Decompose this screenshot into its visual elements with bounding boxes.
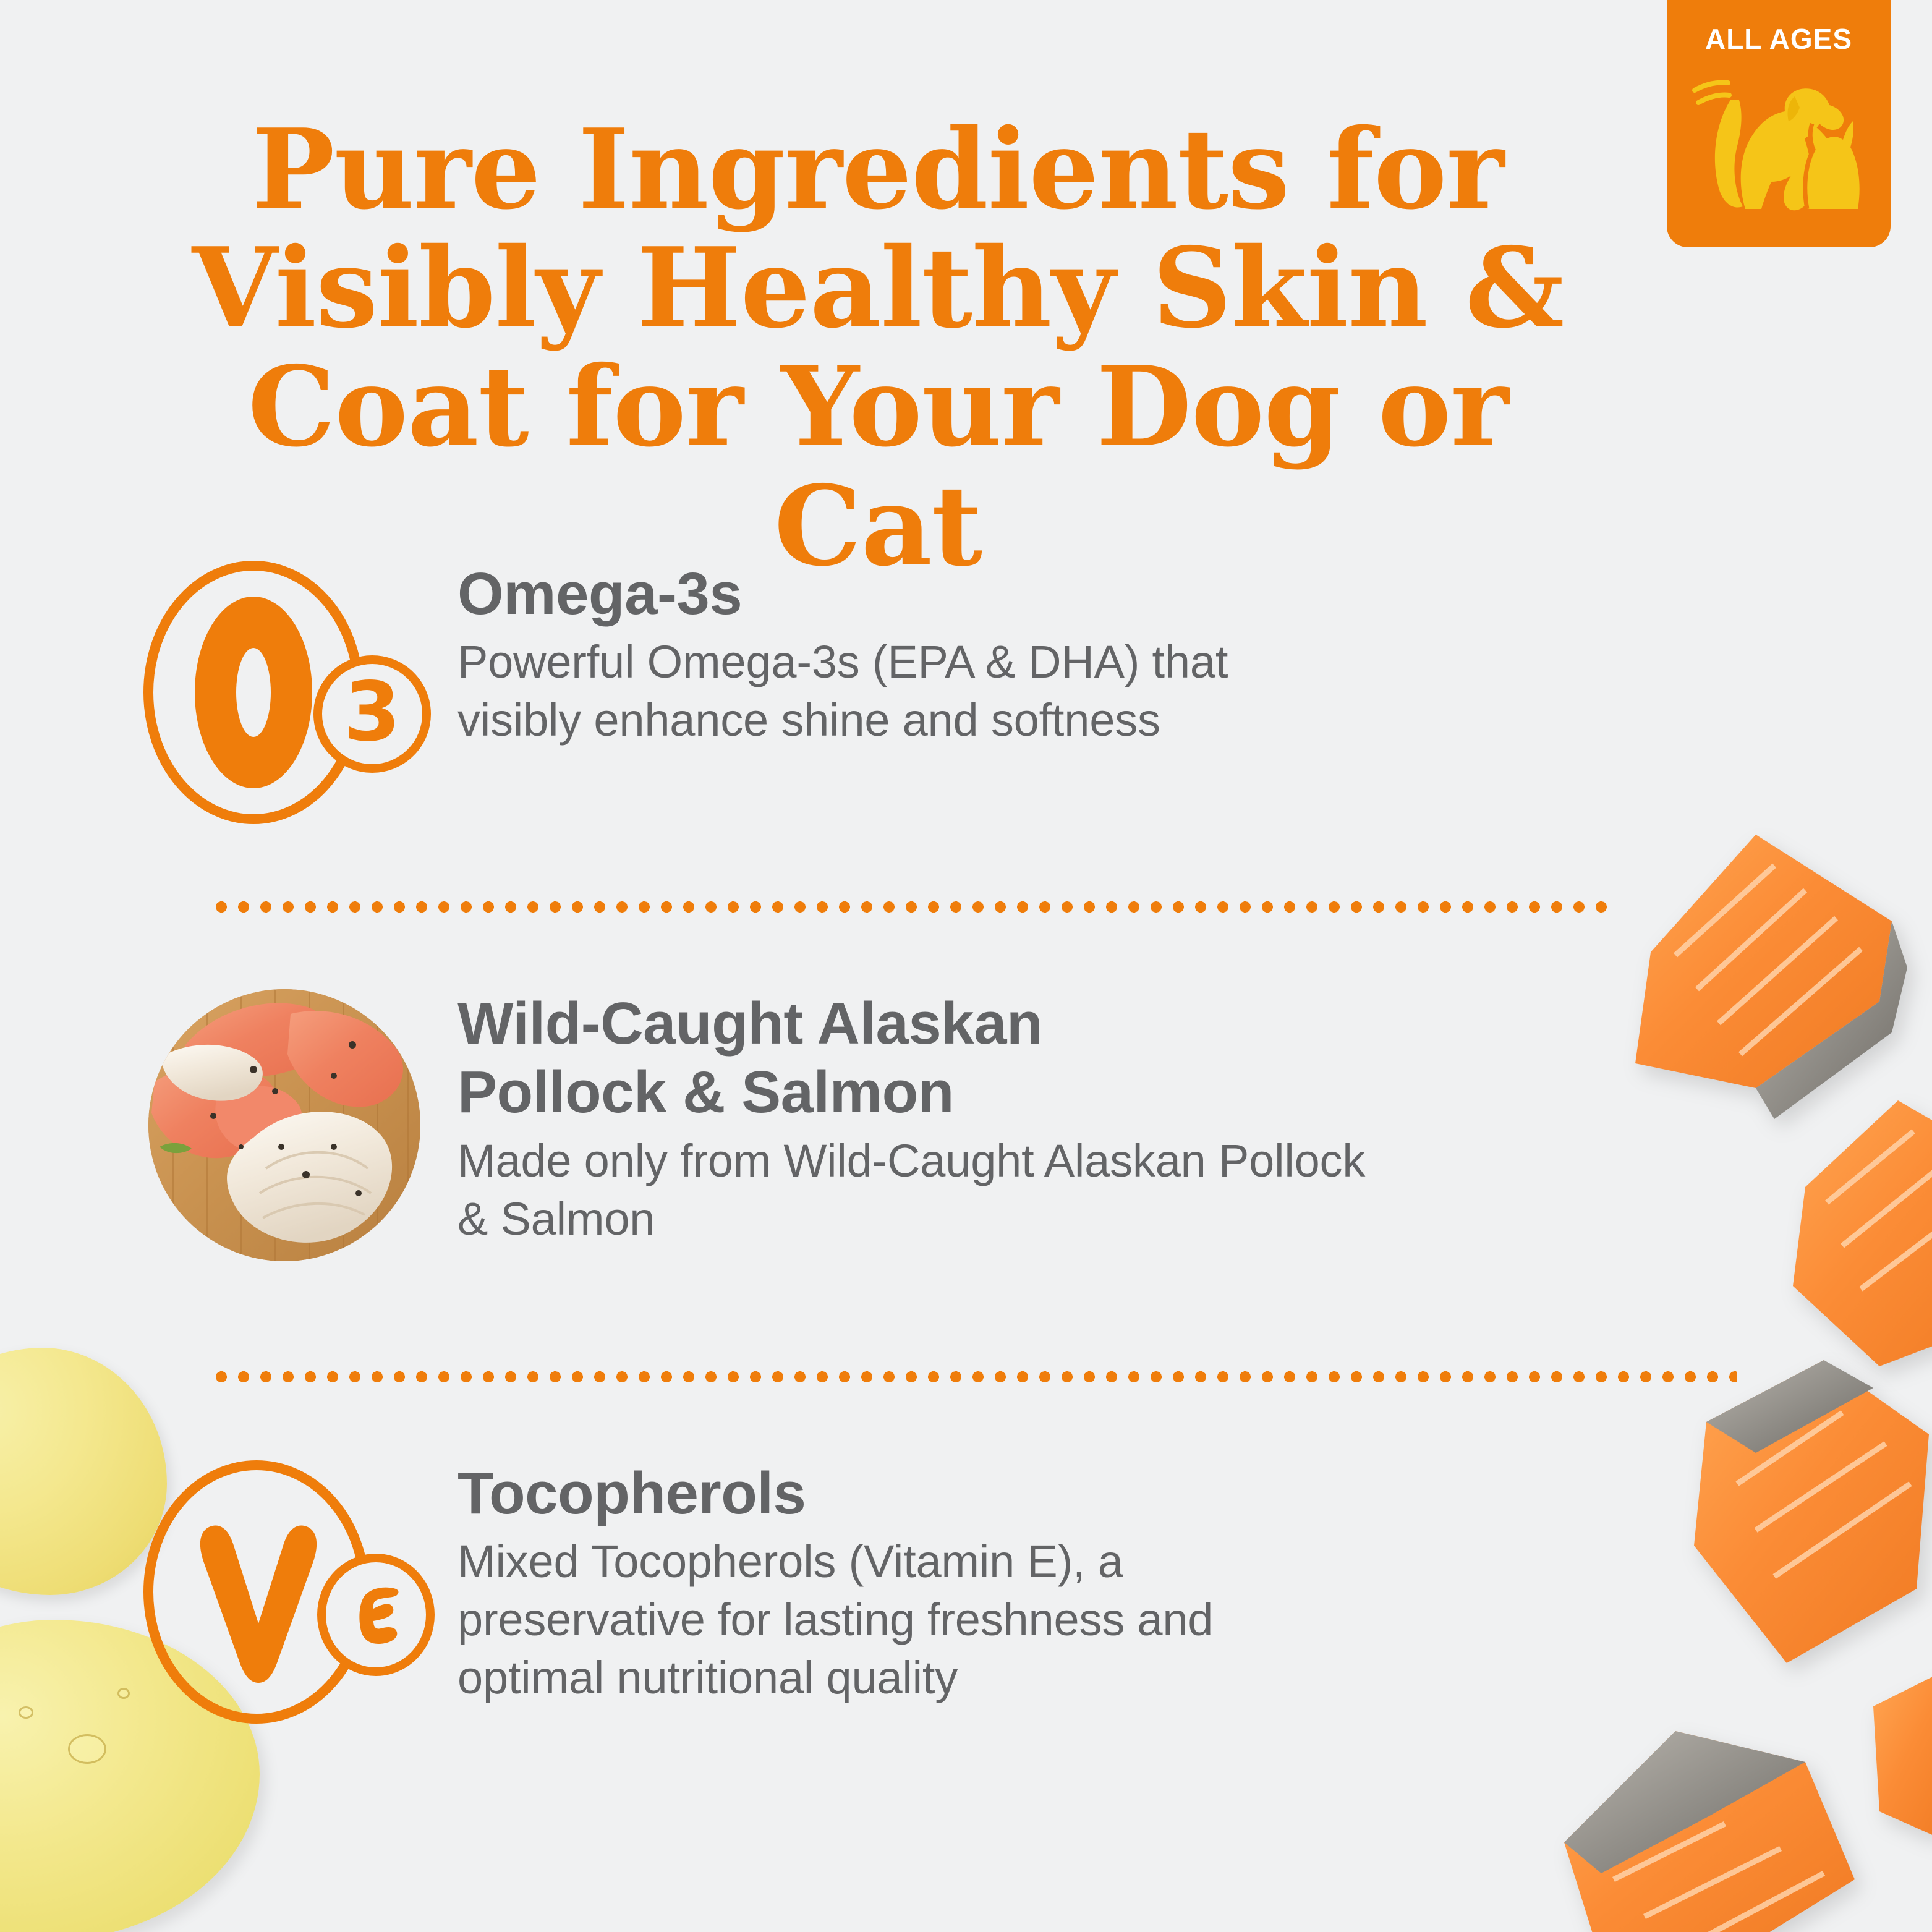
all-ages-label: ALL AGES	[1705, 22, 1852, 56]
feature-title: Wild-Caught Alaskan Pollock & Salmon	[457, 989, 1249, 1127]
raw-fish-photo	[148, 989, 420, 1261]
page-title-line-3: Coat for Your Dog or Cat	[130, 347, 1626, 585]
infographic-canvas: ALL AGES Pure Ingredients for Visibly He…	[0, 0, 1932, 1932]
page-title-line-1: Pure Ingredients for	[130, 110, 1626, 229]
all-ages-badge: ALL AGES	[1667, 0, 1891, 247]
omega-3-badge-icon: 3	[130, 560, 439, 825]
dog-and-cat-silhouette-icon	[1686, 62, 1871, 223]
feature-icon-slot	[111, 1459, 457, 1725]
feature-body: Powerful Omega-3s (EPA & DHA) that visib…	[457, 633, 1298, 749]
feature-text-tocopherols: Tocopherols Mixed Tocopherols (Vitamin E…	[457, 1459, 1694, 1707]
feature-title: Omega-3s	[457, 560, 1694, 628]
salmon-fillet-bottom	[1521, 1694, 1904, 1932]
feature-row-omega3: 3 Omega-3s Powerful Omega-3s (EPA & DHA)…	[111, 560, 1694, 825]
section-divider-2	[210, 1371, 1737, 1382]
feature-text-omega3: Omega-3s Powerful Omega-3s (EPA & DHA) t…	[457, 560, 1694, 749]
page-title: Pure Ingredients for Visibly Healthy Ski…	[130, 110, 1626, 585]
feature-body: Mixed Tocopherols (Vitamin E), a preserv…	[457, 1533, 1311, 1707]
salmon-fillet-lower	[1669, 1342, 1932, 1688]
feature-row-tocopherols: Tocopherols Mixed Tocopherols (Vitamin E…	[111, 1459, 1694, 1725]
page-title-line-2: Visibly Healthy Skin &	[130, 229, 1626, 347]
feature-icon-slot	[111, 989, 457, 1261]
section-divider-1	[210, 901, 1607, 913]
oil-bubble-icon	[68, 1734, 106, 1764]
salmon-fillet-midright	[1768, 1076, 1932, 1397]
feature-row-wild-caught: Wild-Caught Alaskan Pollock & Salmon Mad…	[111, 989, 1694, 1261]
vitamin-e-badge-icon	[130, 1459, 439, 1725]
salmon-fillet-sliver	[1861, 1669, 1932, 1855]
feature-body: Made only from Wild-Caught Alaskan Pollo…	[457, 1132, 1372, 1248]
omega-3-sub-label: 3	[344, 665, 401, 760]
oil-bubble-icon	[19, 1706, 33, 1719]
feature-title: Tocopherols	[457, 1459, 1694, 1528]
feature-text-wild-caught: Wild-Caught Alaskan Pollock & Salmon Mad…	[457, 989, 1694, 1248]
feature-icon-slot: 3	[111, 560, 457, 825]
